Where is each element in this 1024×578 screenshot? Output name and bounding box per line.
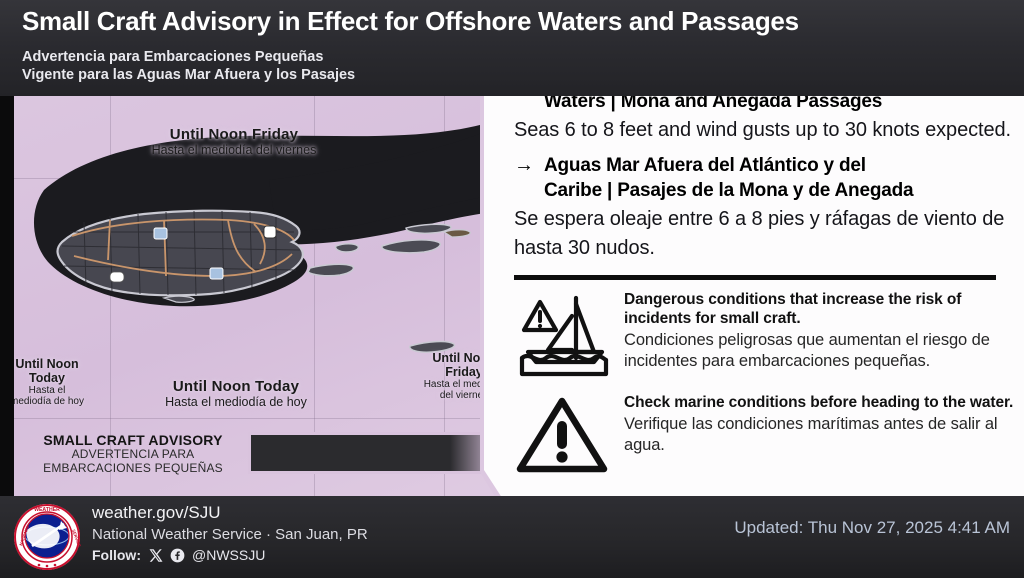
advisory-item-spanish: → Aguas Mar Afuera del Atlántico y del C… xyxy=(514,153,1014,203)
footer-follow-row: Follow: @NWSSJU xyxy=(92,545,368,566)
x-twitter-icon[interactable] xyxy=(148,548,163,563)
advisory-text-panel: → Offshore Atlantic and Caribbean Waters… xyxy=(480,52,1024,508)
safety-subtext: Condiciones peligrosas que aumentan el r… xyxy=(624,330,1014,372)
map-label-en: Until Noon Friday xyxy=(66,126,402,143)
map-label-en: Until Noon Today xyxy=(14,358,86,385)
legend-color-swatch xyxy=(248,432,506,474)
legend-subtitle-line2: EMBARCACIONES PEQUEÑAS xyxy=(16,462,250,476)
section-divider xyxy=(514,275,996,280)
legend-subtitle-line1: ADVERTENCIA PARA xyxy=(16,448,250,462)
safety-item-check-conditions: Check marine conditions before heading t… xyxy=(514,393,1014,484)
advisory-body-english: Seas 6 to 8 feet and wind gusts up to 30… xyxy=(514,116,1014,145)
advisory-graphic: Until Noon Friday Hasta el mediodía del … xyxy=(0,0,1024,578)
safety-subtext: Verifique las condiciones marítimas ante… xyxy=(624,414,1014,456)
safety-item-small-craft: Dangerous conditions that increase the r… xyxy=(514,290,1014,383)
facebook-icon[interactable] xyxy=(170,548,185,563)
arrow-right-icon: → xyxy=(514,153,534,177)
page-subtitle-line2: Vigente para las Aguas Mar Afuera y los … xyxy=(22,66,355,84)
map-label-es: Hasta el mediodía de hoy xyxy=(14,385,86,407)
updated-timestamp: Updated: Thu Nov 27, 2025 4:41 AM xyxy=(734,518,1010,538)
map-label-en: Until Noon Today xyxy=(76,378,396,395)
legend-title: SMALL CRAFT ADVISORY xyxy=(16,432,250,448)
advisory-text-panel-inner: → Offshore Atlantic and Caribbean Waters… xyxy=(484,56,1024,504)
footer-follow-label: Follow: xyxy=(92,545,141,566)
page-subtitle: Advertencia para Embarcaciones Pequeñas … xyxy=(22,48,355,84)
footer-office: National Weather Service · San Juan, PR xyxy=(92,524,368,545)
page-title: Small Craft Advisory in Effect for Offsh… xyxy=(22,6,799,37)
map-label-until-noon-today-left: Until Noon Today Hasta el mediodía de ho… xyxy=(14,358,86,407)
map-label-until-noon-friday-top: Until Noon Friday Hasta el mediodía del … xyxy=(66,126,402,157)
map-label-es: Hasta el mediodía de hoy xyxy=(76,395,396,409)
footer-handle[interactable]: @NWSSJU xyxy=(192,545,265,566)
advisory-heading-line2: Caribe | Pasajes de la Mona y de Anegada xyxy=(544,178,913,203)
map-legend: SMALL CRAFT ADVISORY ADVERTENCIA PARA EM… xyxy=(16,432,508,475)
footer-bar: WEATHER NATIONAL SERVICE weather.gov/SJU… xyxy=(0,496,1024,578)
safety-heading: Check marine conditions before heading t… xyxy=(624,393,1014,412)
safety-heading: Dangerous conditions that increase the r… xyxy=(624,290,1014,328)
national-weather-service-logo: WEATHER NATIONAL SERVICE xyxy=(12,502,82,572)
footer-url[interactable]: weather.gov/SJU xyxy=(92,502,368,524)
footer-text-block: weather.gov/SJU National Weather Service… xyxy=(92,502,368,566)
map-label-es: Hasta el mediodía del viernes xyxy=(66,143,402,157)
advisory-body-spanish: Se espera oleaje entre 6 a 8 pies y ráfa… xyxy=(514,205,1014,263)
header-bar: Small Craft Advisory in Effect for Offsh… xyxy=(0,0,1024,96)
svg-text:WEATHER: WEATHER xyxy=(34,507,60,513)
page-subtitle-line1: Advertencia para Embarcaciones Pequeñas xyxy=(22,48,355,66)
map-label-until-noon-today-center: Until Noon Today Hasta el mediodía de ho… xyxy=(76,378,396,409)
map-panel: Until Noon Friday Hasta el mediodía del … xyxy=(14,60,510,500)
warning-triangle-icon xyxy=(514,393,610,484)
advisory-heading-line1: Aguas Mar Afuera del Atlántico y del xyxy=(544,153,913,178)
sailboat-warning-icon xyxy=(514,290,610,383)
